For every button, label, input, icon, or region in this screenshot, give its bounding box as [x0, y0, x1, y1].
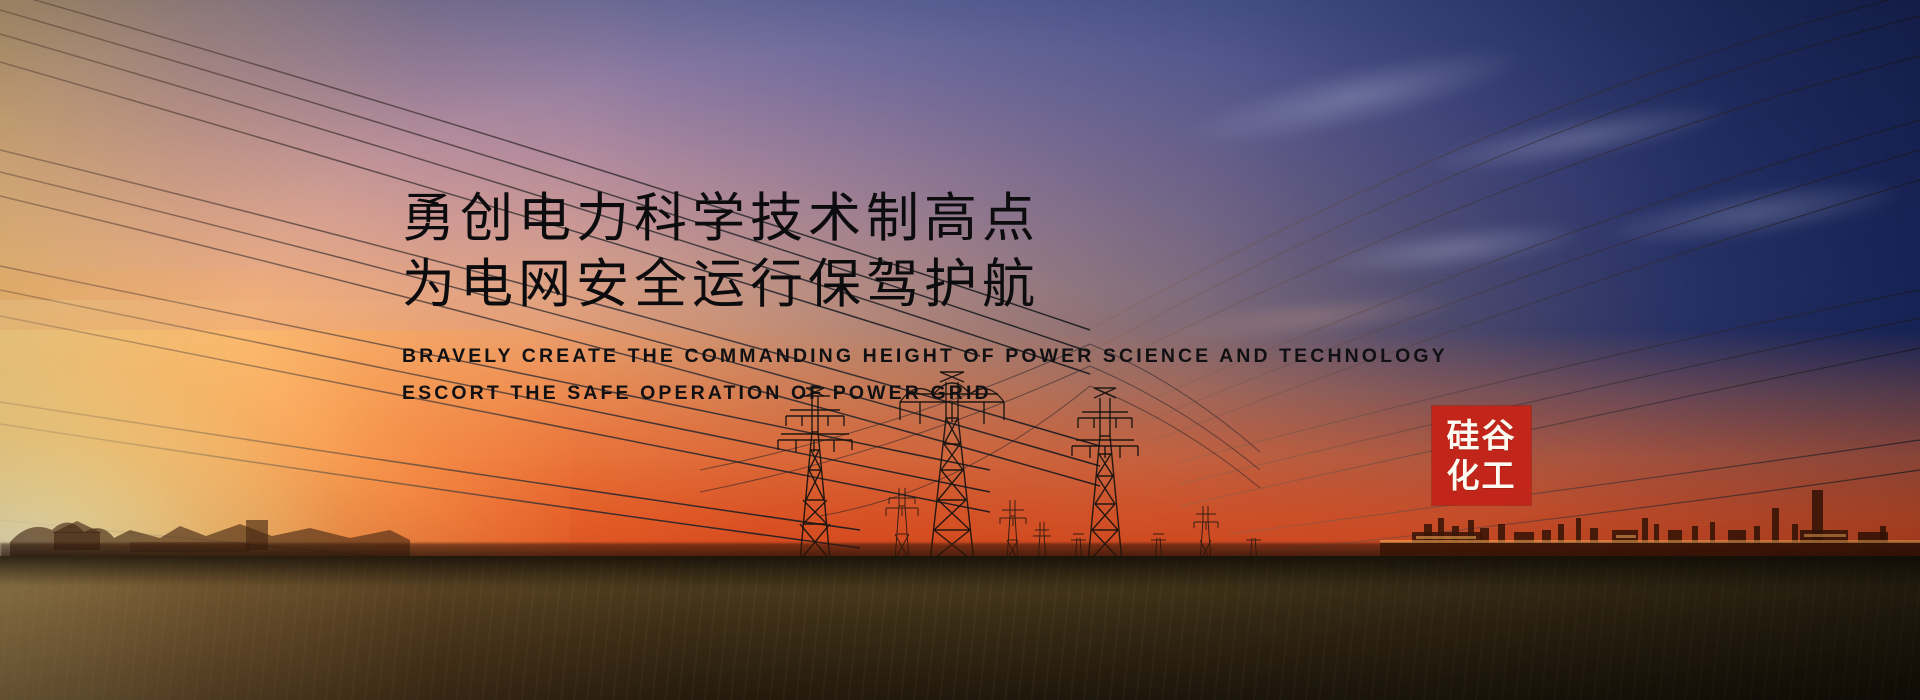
headline-line-2: 为电网安全运行保驾护航: [402, 252, 1462, 318]
seal-text-line-1: 硅谷: [1447, 416, 1517, 456]
seal-text-line-2: 化工: [1447, 456, 1517, 496]
company-seal-logo[interactable]: 硅谷 化工: [1432, 406, 1531, 505]
subheadline-line-2: ESCORT THE SAFE OPERATION OF POWER GRID: [402, 375, 1462, 412]
hero-banner: 勇创电力科学技术制高点 为电网安全运行保驾护航 BRAVELY CREATE T…: [0, 0, 1920, 700]
headline-line-1: 勇创电力科学技术制高点: [402, 186, 1462, 252]
field-horizon-shadow: [0, 556, 1920, 586]
banner-copy: 勇创电力科学技术制高点 为电网安全运行保驾护航 BRAVELY CREATE T…: [402, 186, 1462, 412]
subheadline-group: BRAVELY CREATE THE COMMANDING HEIGHT OF …: [402, 338, 1462, 412]
subheadline-line-1: BRAVELY CREATE THE COMMANDING HEIGHT OF …: [402, 338, 1462, 375]
